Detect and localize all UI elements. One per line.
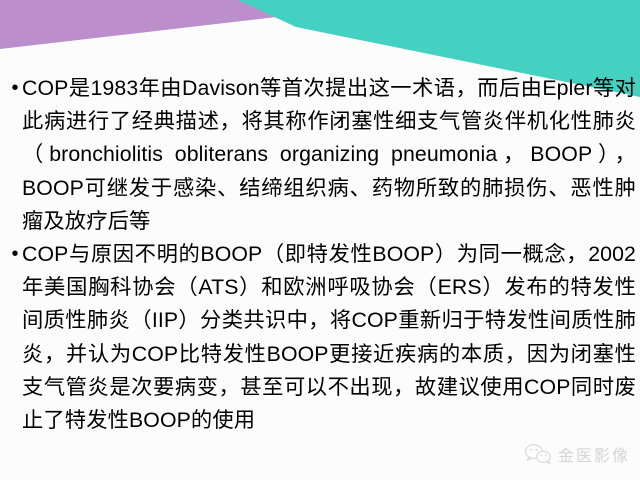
slide-body: • COP是1983年由Davison等首次提出这一术语，而后由Epler等对此… (8, 72, 636, 437)
bullet-marker: • (8, 238, 22, 271)
bullet-marker: • (8, 72, 22, 105)
wechat-icon (524, 442, 552, 466)
purple-triangle-shape (0, 0, 424, 49)
list-item: • COP与原因不明的BOOP（即特发性BOOP）为同一概念，2002年美国胸科… (8, 238, 636, 437)
bullet-text-2: COP与原因不明的BOOP（即特发性BOOP）为同一概念，2002年美国胸科协会… (22, 238, 636, 437)
slide-canvas: • COP是1983年由Davison等首次提出这一术语，而后由Epler等对此… (0, 0, 640, 480)
list-item: • COP是1983年由Davison等首次提出这一术语，而后由Epler等对此… (8, 72, 636, 238)
watermark: 金医影像 (524, 442, 630, 466)
watermark-label: 金医影像 (558, 442, 630, 466)
bullet-text-1: COP是1983年由Davison等首次提出这一术语，而后由Epler等对此病进… (22, 72, 636, 238)
